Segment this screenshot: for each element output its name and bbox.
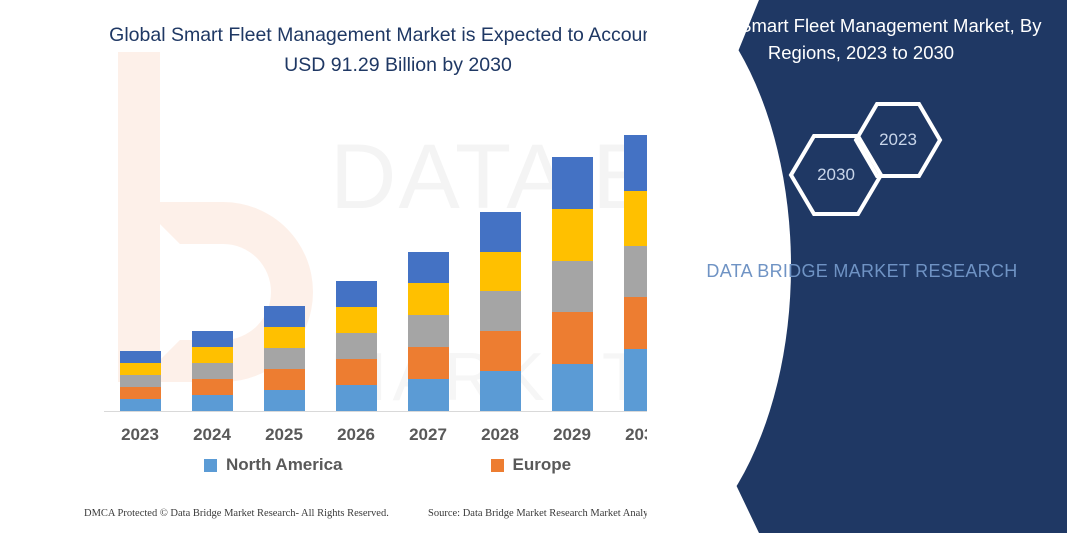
hexagon-badge-2030: 2030 xyxy=(787,132,885,218)
legend-swatch-europe xyxy=(491,459,504,472)
legend-item-north-america[interactable]: North America xyxy=(204,455,343,475)
bar-segment[interactable] xyxy=(480,252,521,292)
bar-segment[interactable] xyxy=(480,331,521,371)
bar-segment[interactable] xyxy=(264,369,305,390)
bar-segment[interactable] xyxy=(264,348,305,369)
x-axis-label: 2029 xyxy=(536,425,608,445)
bar-segment[interactable] xyxy=(192,379,233,395)
x-axis-label: 2025 xyxy=(248,425,320,445)
stacked-bar[interactable] xyxy=(408,252,449,411)
bar-segment[interactable] xyxy=(120,375,161,387)
bar-segment[interactable] xyxy=(192,363,233,379)
bar-slot xyxy=(320,111,392,411)
footer-copyright: DMCA Protected © Data Bridge Market Rese… xyxy=(84,508,389,519)
chart-title: Global Smart Fleet Management Market is … xyxy=(88,20,708,80)
stacked-bar[interactable] xyxy=(480,212,521,411)
bar-chart xyxy=(88,110,688,415)
bar-segment[interactable] xyxy=(408,347,449,379)
x-axis-label: 2023 xyxy=(104,425,176,445)
x-axis-line xyxy=(104,411,688,412)
stacked-bar[interactable] xyxy=(192,331,233,411)
bar-segment[interactable] xyxy=(552,209,593,261)
bar-segment[interactable] xyxy=(480,291,521,331)
legend-swatch-north-america xyxy=(204,459,217,472)
hexagon-badges: 2023 2030 xyxy=(647,98,1067,218)
stacked-bar[interactable] xyxy=(264,306,305,411)
bar-segment[interactable] xyxy=(552,312,593,364)
bar-segment[interactable] xyxy=(192,331,233,347)
bar-segment[interactable] xyxy=(480,212,521,252)
bar-segment[interactable] xyxy=(336,359,377,385)
bar-segment[interactable] xyxy=(192,395,233,411)
bar-segment[interactable] xyxy=(480,371,521,411)
bar-segment[interactable] xyxy=(408,379,449,411)
x-axis-label: 2027 xyxy=(392,425,464,445)
bar-slot xyxy=(392,111,464,411)
bar-segment[interactable] xyxy=(336,281,377,307)
plot-area xyxy=(104,110,680,412)
bar-segment[interactable] xyxy=(264,306,305,327)
bar-slot xyxy=(176,111,248,411)
bar-segment[interactable] xyxy=(408,315,449,347)
legend-label-north-america: North America xyxy=(226,455,343,475)
x-axis-label: 2026 xyxy=(320,425,392,445)
panel-subtitle: DATA BRIDGE MARKET RESEARCH xyxy=(667,258,1057,285)
bar-segment[interactable] xyxy=(336,307,377,333)
bar-segment[interactable] xyxy=(552,261,593,313)
chart-panel: DATA BRIDGE MARKET RESEARCH Global Smart… xyxy=(0,0,760,533)
stacked-bar[interactable] xyxy=(336,281,377,411)
x-axis-label: 2024 xyxy=(176,425,248,445)
bar-slot xyxy=(464,111,536,411)
bar-segment[interactable] xyxy=(552,157,593,209)
bar-series-container xyxy=(104,111,680,411)
bar-slot xyxy=(104,111,176,411)
bar-segment[interactable] xyxy=(192,347,233,363)
stacked-bar[interactable] xyxy=(552,157,593,411)
bar-segment[interactable] xyxy=(408,283,449,315)
bar-segment[interactable] xyxy=(120,351,161,363)
legend-label-europe: Europe xyxy=(513,455,572,475)
stacked-bar[interactable] xyxy=(120,351,161,411)
hexagon-label-2030: 2030 xyxy=(787,132,885,218)
bar-segment[interactable] xyxy=(120,399,161,411)
infographic-root: DATA BRIDGE MARKET RESEARCH Global Smart… xyxy=(0,0,1067,533)
bar-segment[interactable] xyxy=(552,364,593,411)
bar-slot xyxy=(536,111,608,411)
title-panel: Global Smart Fleet Management Market, By… xyxy=(647,0,1067,533)
chart-legend: North America Europe xyxy=(104,455,680,475)
x-axis-label: 2028 xyxy=(464,425,536,445)
bar-segment[interactable] xyxy=(408,252,449,284)
legend-item-europe[interactable]: Europe xyxy=(491,455,572,475)
bar-segment[interactable] xyxy=(120,387,161,399)
bar-segment[interactable] xyxy=(336,385,377,411)
bar-segment[interactable] xyxy=(264,390,305,411)
bar-segment[interactable] xyxy=(120,363,161,375)
bar-segment[interactable] xyxy=(264,327,305,348)
bar-segment[interactable] xyxy=(336,333,377,359)
bar-slot xyxy=(248,111,320,411)
panel-title: Global Smart Fleet Management Market, By… xyxy=(671,12,1051,66)
x-axis-labels: 20232024202520262027202820292030 xyxy=(104,425,680,445)
